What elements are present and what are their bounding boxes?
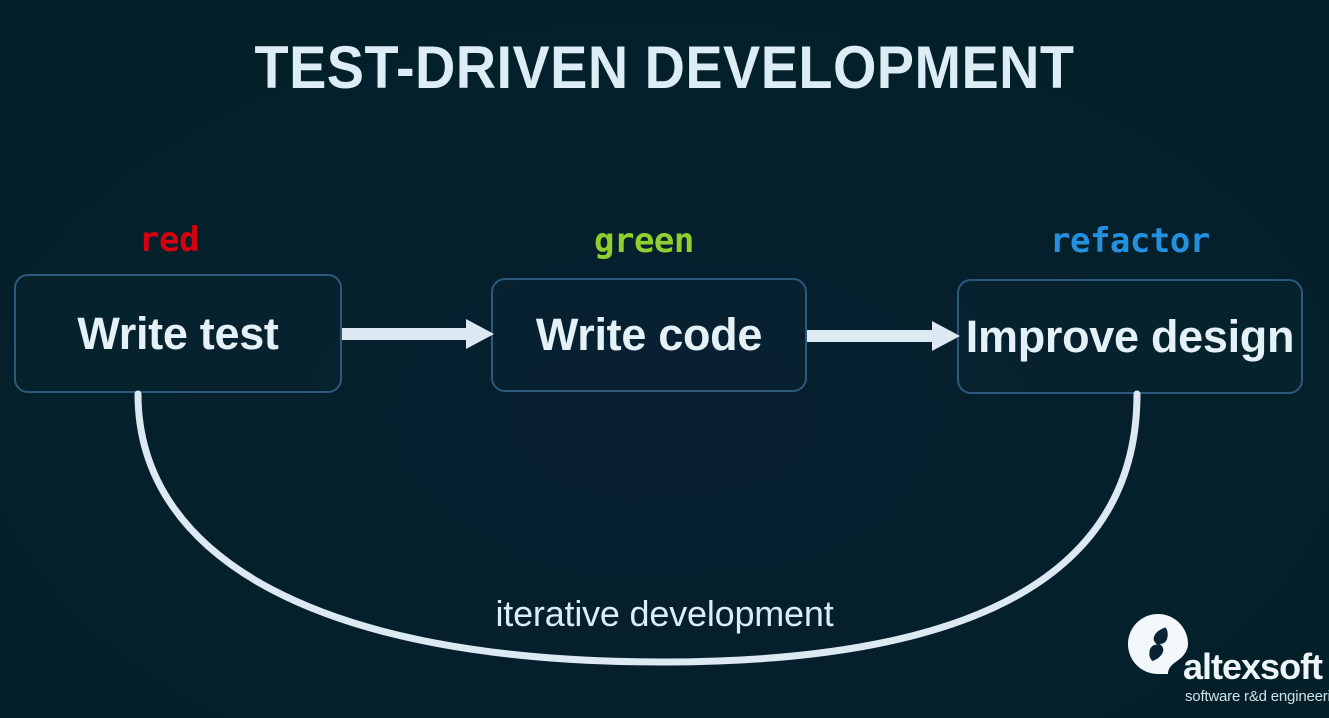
step-box-improve-design[interactable]: Improve design xyxy=(957,279,1303,394)
stage-label-green: green xyxy=(594,224,694,258)
logo-tagline: software r&d engineering xyxy=(1185,689,1329,704)
logo-wordmark: altexsoft xyxy=(1183,649,1322,685)
step-box-write-code-label: Write code xyxy=(536,309,762,361)
arrow-right-icon-write-code-to-improve-design xyxy=(807,316,960,356)
altexsoft-logo-mark-icon xyxy=(1127,613,1189,675)
step-box-write-test-label: Write test xyxy=(77,308,278,360)
page-title: TEST-DRIVEN DEVELOPMENT xyxy=(47,33,1283,102)
stage-label-refactor: refactor xyxy=(1050,224,1210,258)
logo: altexsoft software r&d engineering xyxy=(1127,613,1322,709)
step-box-improve-design-label: Improve design xyxy=(966,311,1294,363)
diagram-canvas: TEST-DRIVEN DEVELOPMENT red green refact… xyxy=(0,0,1329,718)
arrow-right-icon-write-test-to-write-code xyxy=(342,314,494,354)
step-box-write-test[interactable]: Write test xyxy=(14,274,342,393)
stage-label-red: red xyxy=(139,223,199,257)
step-box-write-code[interactable]: Write code xyxy=(491,278,807,392)
